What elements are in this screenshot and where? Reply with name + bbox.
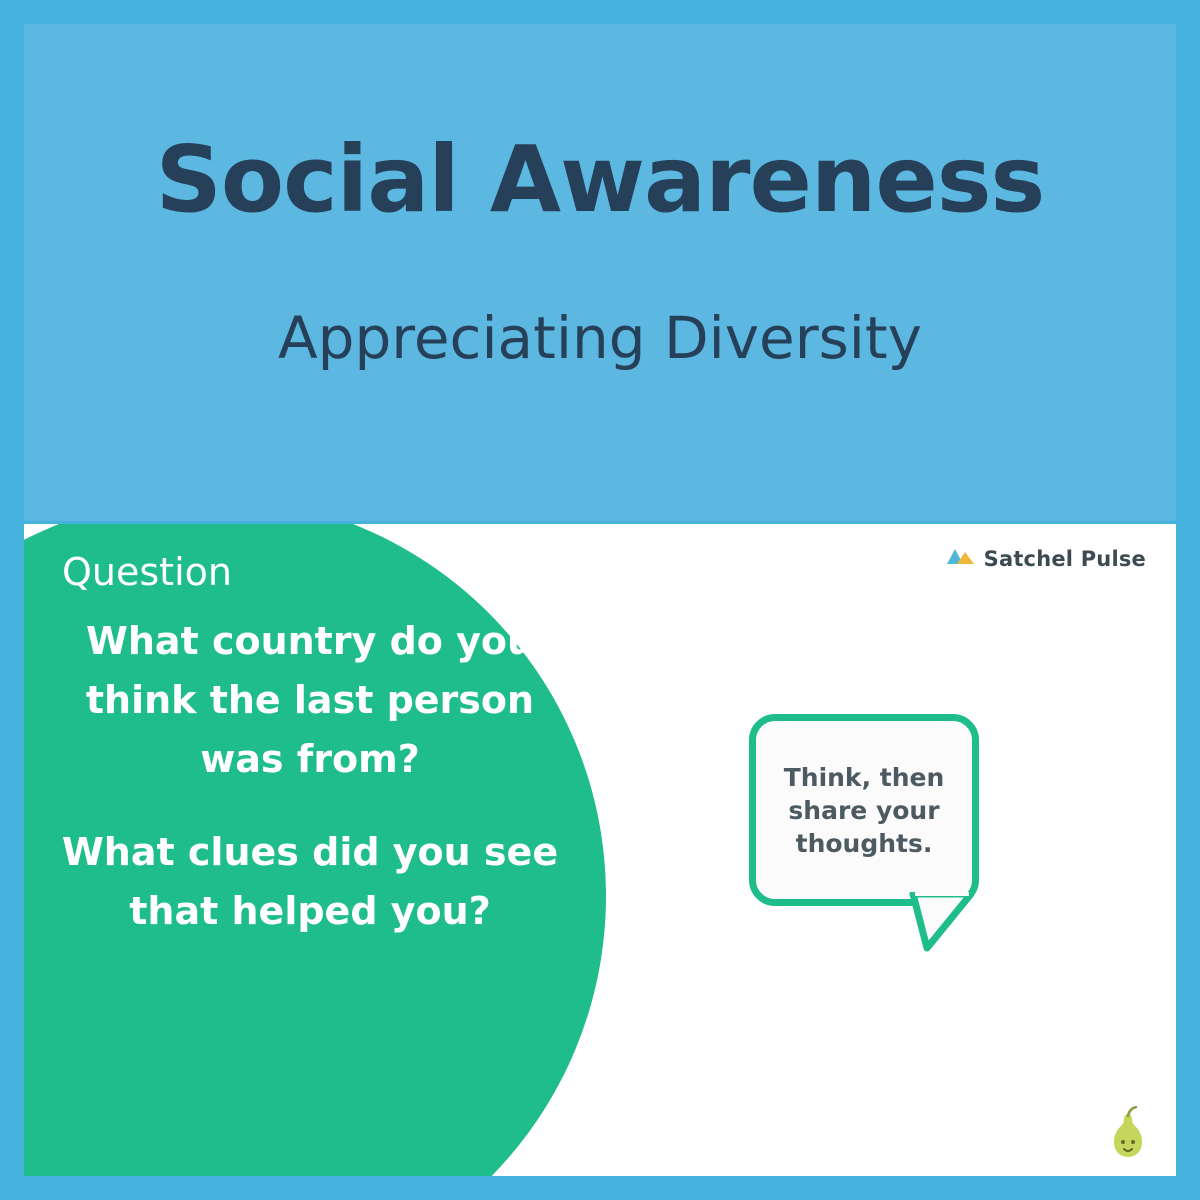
slide-body: Question What country do you think the l… [24,524,1176,1176]
question-line-2: What clues did you see that helped you? [54,823,566,941]
question-label: Question [62,550,232,594]
question-text: What country do you think the last perso… [54,612,566,940]
callout-bubble-tail [909,892,979,952]
question-line-1: What country do you think the last perso… [54,612,566,789]
page-subtitle: Appreciating Diversity [278,304,922,372]
page-title: Social Awareness [156,134,1045,226]
slide-header: Social Awareness Appreciating Diversity [24,24,1176,521]
brand-name: Satchel Pulse [984,547,1146,571]
callout-bubble: Think, then share your thoughts. [749,714,999,944]
slide: Social Awareness Appreciating Diversity … [0,0,1200,1200]
mountains-icon [946,546,976,572]
callout-bubble-body: Think, then share your thoughts. [749,714,979,906]
brand-logo: Satchel Pulse [946,546,1146,572]
callout-text: Think, then share your thoughts. [756,761,972,860]
pear-icon [1108,1106,1148,1160]
